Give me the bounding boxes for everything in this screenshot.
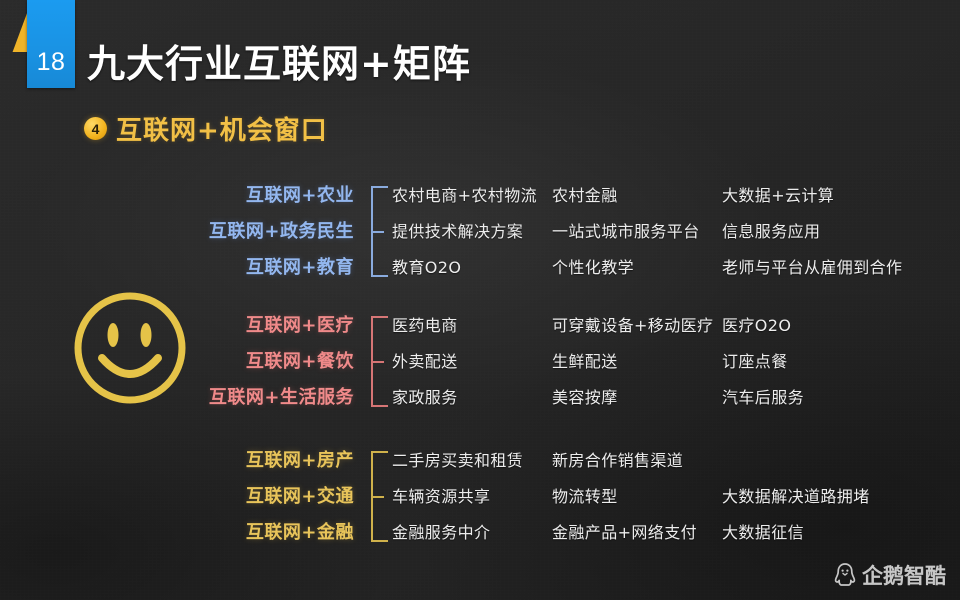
- page-number-text: 18: [27, 48, 75, 77]
- matrix-row: 互联网+交通 车辆资源共享 物流转型 大数据解决道路拥堵: [0, 479, 960, 515]
- cell-item: 教育O2O: [392, 250, 461, 286]
- cell-item: 农村电商+农村物流: [392, 178, 537, 214]
- cell-item: 二手房买卖和租赁: [392, 443, 523, 479]
- matrix-group-1: 互联网+农业 农村电商+农村物流 农村金融 大数据+云计算 互联网+政务民生 提…: [0, 178, 960, 286]
- matrix-row: 互联网+房产 二手房买卖和租赁 新房合作销售渠道: [0, 443, 960, 479]
- row-label[interactable]: 互联网+餐饮: [246, 344, 354, 380]
- cell-item: 金融服务中介: [392, 515, 490, 551]
- cell-item: 物流转型: [552, 479, 618, 515]
- matrix-row: 互联网+农业 农村电商+农村物流 农村金融 大数据+云计算: [0, 178, 960, 214]
- matrix-row: 互联网+餐饮 外卖配送 生鲜配送 订座点餐: [0, 344, 960, 380]
- matrix-group-3: 互联网+房产 二手房买卖和租赁 新房合作销售渠道 互联网+交通 车辆资源共享 物…: [0, 443, 960, 551]
- brand-wordmark: 企鹅智酷: [862, 560, 946, 590]
- cell-item: 可穿戴设备+移动医疗: [552, 308, 713, 344]
- subtitle-number-badge: 4: [84, 117, 107, 140]
- cell-item: 大数据解决道路拥堵: [722, 479, 870, 515]
- cell-item: 大数据征信: [722, 515, 804, 551]
- row-label[interactable]: 互联网+教育: [246, 250, 354, 286]
- cell-item: 汽车后服务: [722, 380, 804, 416]
- matrix-row: 互联网+政务民生 提供技术解决方案 一站式城市服务平台 信息服务应用: [0, 214, 960, 250]
- cell-item: 家政服务: [392, 380, 458, 416]
- cell-item: 个性化教学: [552, 250, 634, 286]
- matrix-group-2: 互联网+医疗 医药电商 可穿戴设备+移动医疗 医疗O2O 互联网+餐饮 外卖配送…: [0, 308, 960, 416]
- matrix-row: 互联网+医疗 医药电商 可穿戴设备+移动医疗 医疗O2O: [0, 308, 960, 344]
- penguin-icon: [832, 562, 858, 588]
- cell-item: 医药电商: [392, 308, 458, 344]
- subtitle-row: 4 互联网+机会窗口: [84, 110, 328, 147]
- cell-item: 订座点餐: [722, 344, 788, 380]
- subtitle-text: 互联网+机会窗口: [116, 110, 328, 147]
- row-label[interactable]: 互联网+交通: [246, 479, 354, 515]
- row-label[interactable]: 互联网+农业: [246, 178, 354, 214]
- page-number-badge: 18: [27, 0, 75, 88]
- cell-item: 提供技术解决方案: [392, 214, 523, 250]
- row-label[interactable]: 互联网+金融: [246, 515, 354, 551]
- slide-canvas: 18 九大行业互联网+矩阵 4 互联网+机会窗口 互联网+农业 农村电商+农村物…: [0, 0, 960, 600]
- cell-item: 外卖配送: [392, 344, 458, 380]
- row-label[interactable]: 互联网+医疗: [246, 308, 354, 344]
- matrix-row: 互联网+金融 金融服务中介 金融产品+网络支付 大数据征信: [0, 515, 960, 551]
- cell-item: 生鲜配送: [552, 344, 618, 380]
- cell-item: 农村金融: [552, 178, 618, 214]
- matrix-row: 互联网+生活服务 家政服务 美容按摩 汽车后服务: [0, 380, 960, 416]
- page-title: 九大行业互联网+矩阵: [87, 33, 471, 88]
- cell-item: 医疗O2O: [722, 308, 791, 344]
- cell-item: 一站式城市服务平台: [552, 214, 700, 250]
- brand-logo: 企鹅智酷: [832, 560, 946, 590]
- cell-item: 车辆资源共享: [392, 479, 490, 515]
- row-label[interactable]: 互联网+政务民生: [209, 214, 354, 250]
- cell-item: 信息服务应用: [722, 214, 820, 250]
- row-label[interactable]: 互联网+生活服务: [209, 380, 354, 416]
- row-label[interactable]: 互联网+房产: [246, 443, 354, 479]
- cell-item: 大数据+云计算: [722, 178, 834, 214]
- cell-item: 美容按摩: [552, 380, 618, 416]
- matrix-row: 互联网+教育 教育O2O 个性化教学 老师与平台从雇佣到合作: [0, 250, 960, 286]
- cell-item: 新房合作销售渠道: [552, 443, 683, 479]
- cell-item: 老师与平台从雇佣到合作: [722, 250, 902, 286]
- cell-item: 金融产品+网络支付: [552, 515, 697, 551]
